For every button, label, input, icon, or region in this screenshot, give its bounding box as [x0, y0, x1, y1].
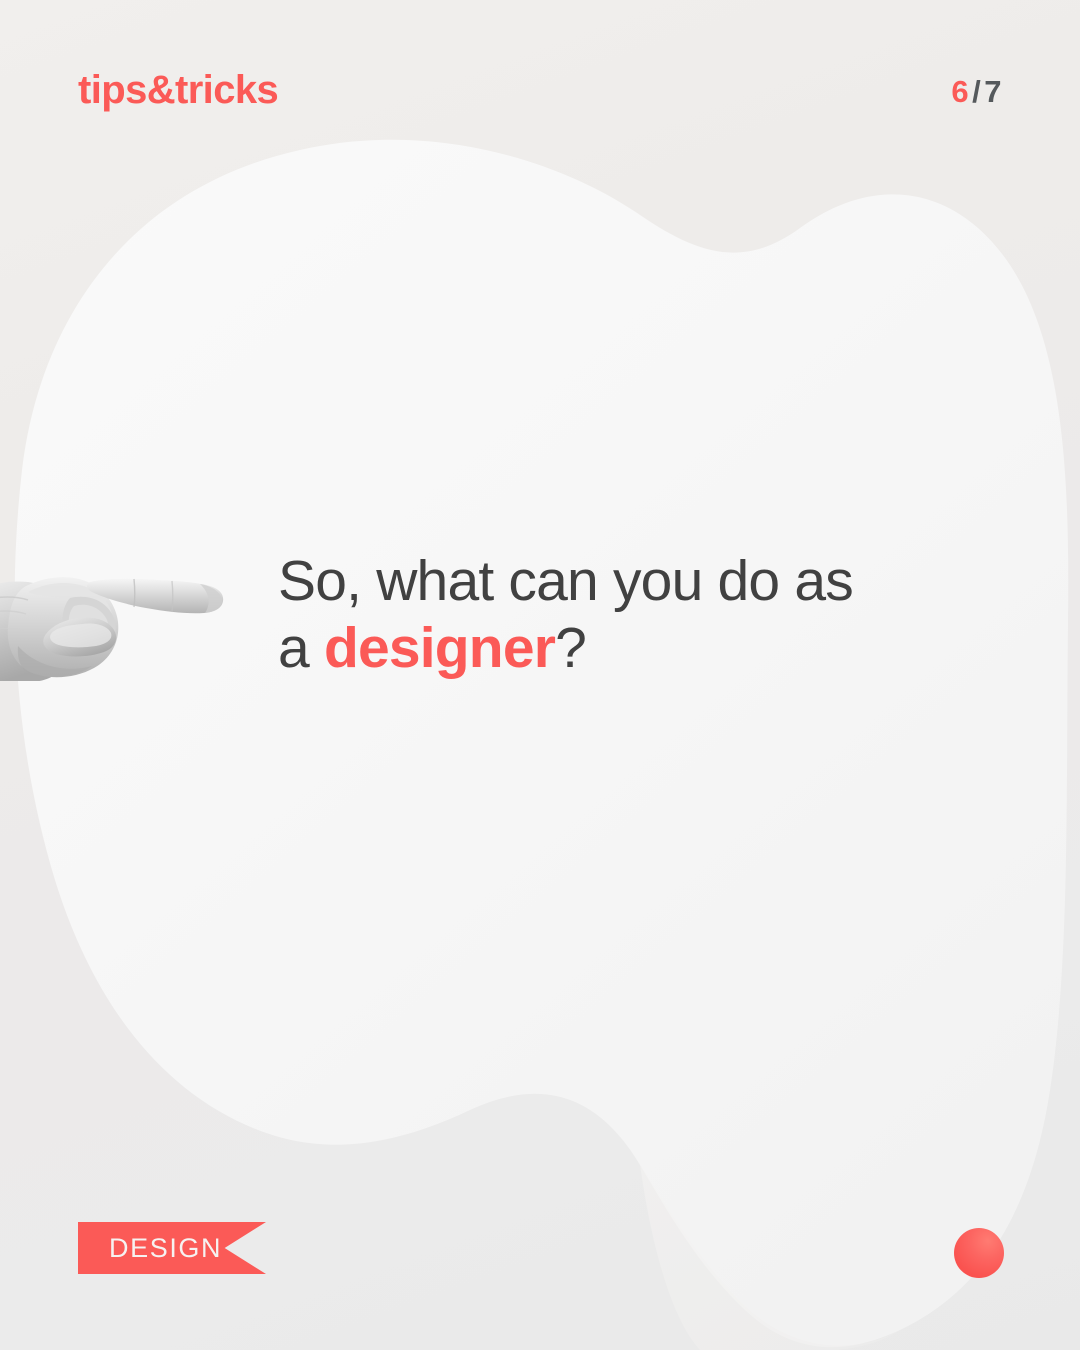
coral-dot-icon — [954, 1228, 1004, 1278]
headline-line-2: a designer? — [278, 615, 978, 682]
headline-prefix: a — [278, 616, 324, 680]
headline-line-1: So, what can you do as — [278, 549, 853, 613]
category-badge-label: DESIGN — [78, 1235, 222, 1262]
page-title: So, what can you do as a designer? — [278, 548, 978, 681]
header: tips&tricks 6/7 — [0, 0, 1080, 170]
headline-suffix: ? — [555, 616, 586, 680]
page-counter: 6/7 — [951, 76, 1002, 107]
slide-canvas: tips&tricks 6/7 — [0, 0, 1080, 1350]
headline-accent-word: designer — [324, 616, 555, 680]
page-counter-total: 7 — [984, 74, 1002, 109]
page-counter-current: 6 — [951, 74, 969, 109]
brand-logo: tips&tricks — [78, 70, 278, 110]
page-counter-separator: / — [969, 74, 984, 109]
